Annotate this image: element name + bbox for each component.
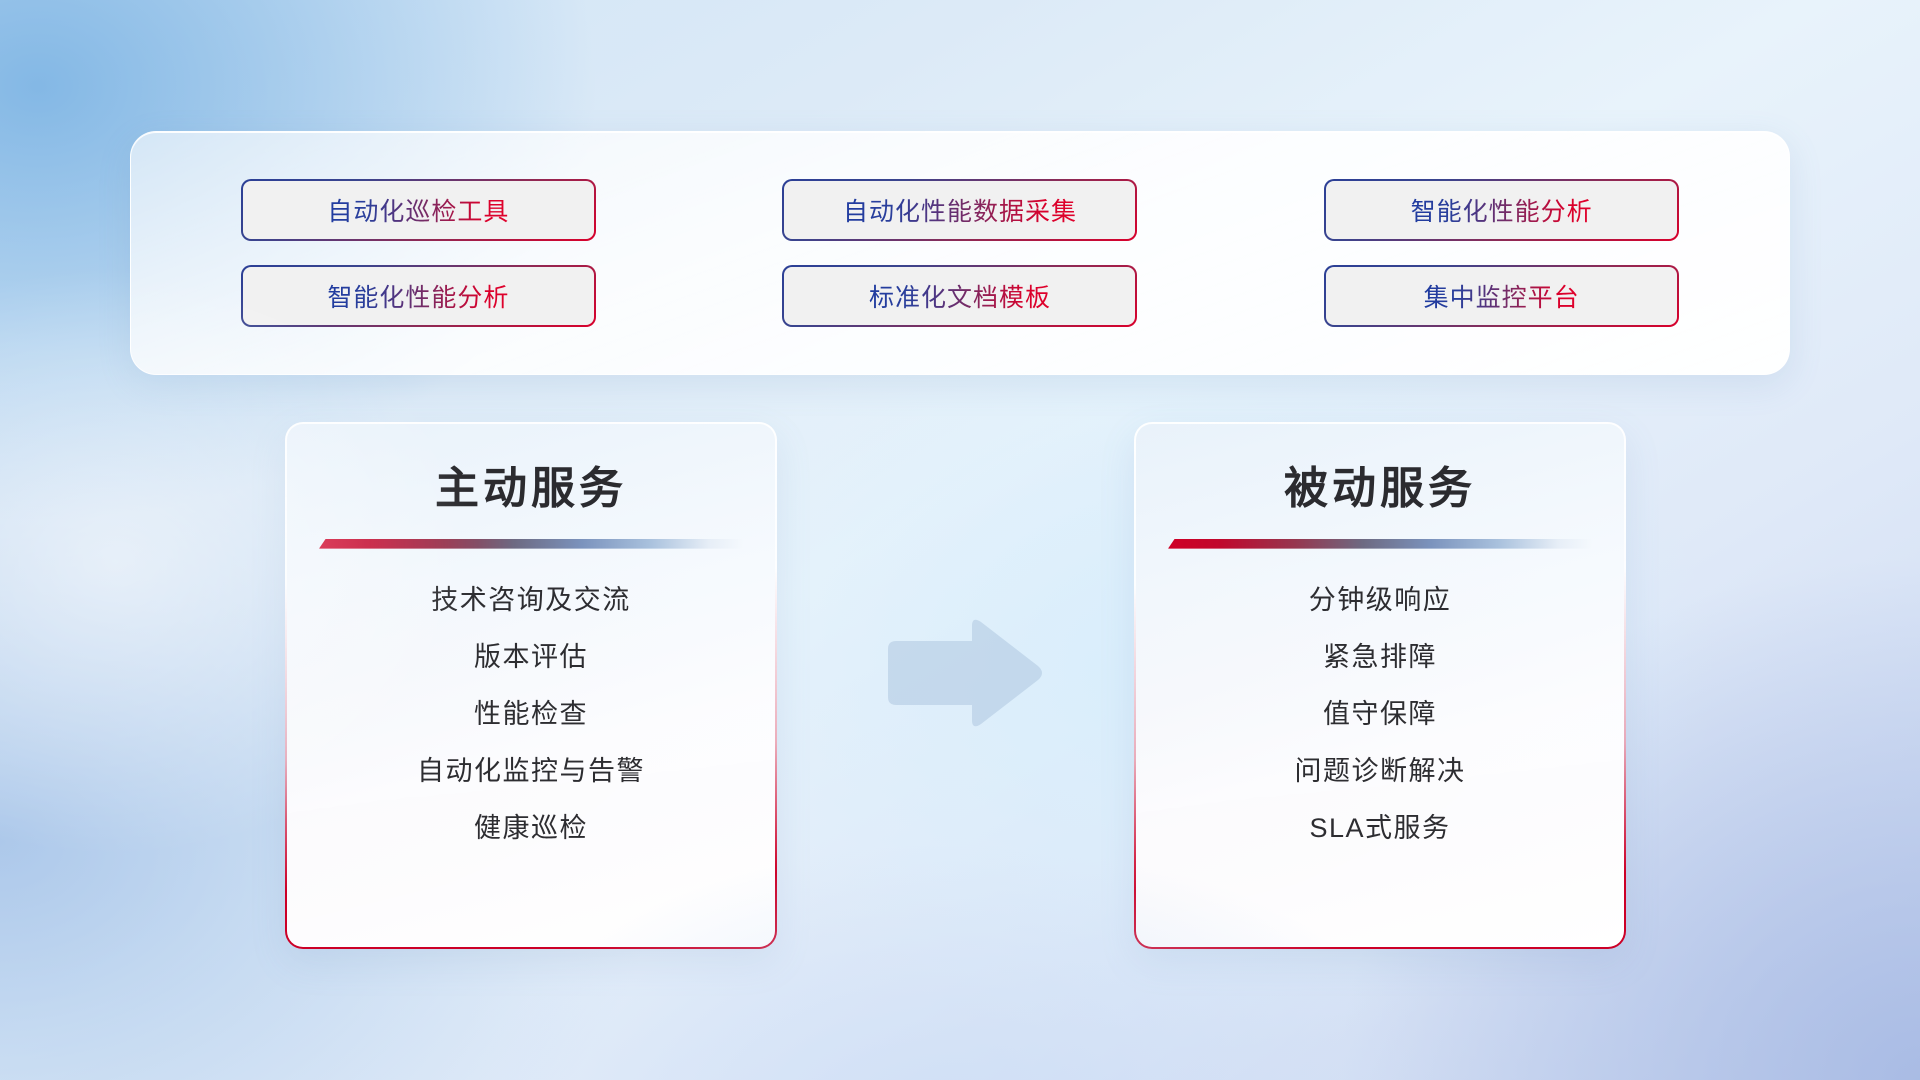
slide-canvas: 自动化巡检工具 自动化性能数据采集 智能化性能分析 智能化性能分析 标准化文档模… xyxy=(0,0,1920,1080)
service-card-proactive: 主动服务 技术咨询及交流 版本评估 性能检查 自动化监控与告警 健康巡检 xyxy=(285,422,777,949)
service-card-reactive: 被动服务 分钟级响应 紧急排障 值守保障 问题诊断解决 SLA式服务 xyxy=(1134,422,1626,949)
capability-pill-label: 智能化性能分析 xyxy=(327,278,509,314)
list-item: 问题诊断解决 xyxy=(1295,754,1466,789)
card-title-reactive: 被动服务 xyxy=(1284,464,1476,515)
capability-pill-intelligent-performance-analysis-bottom[interactable]: 智能化性能分析 xyxy=(241,265,596,327)
capability-pill-label: 标准化文档模板 xyxy=(869,278,1051,314)
list-item: 技术咨询及交流 xyxy=(431,583,631,618)
capability-pill-grid: 自动化巡检工具 自动化性能数据采集 智能化性能分析 智能化性能分析 标准化文档模… xyxy=(189,179,1731,327)
capability-pill-label: 集中监控平台 xyxy=(1424,278,1580,314)
capability-pill-standardized-document-template[interactable]: 标准化文档模板 xyxy=(782,265,1137,327)
list-item: 性能检查 xyxy=(474,697,588,732)
list-item: 值守保障 xyxy=(1323,697,1437,732)
capability-pill-label: 自动化性能数据采集 xyxy=(843,192,1077,228)
arrow-right-icon xyxy=(876,614,1044,732)
list-item: 紧急排障 xyxy=(1323,640,1437,675)
card-title-proactive: 主动服务 xyxy=(435,464,627,515)
list-item: 自动化监控与告警 xyxy=(417,754,645,789)
list-item: 版本评估 xyxy=(474,640,588,675)
service-list-proactive: 技术咨询及交流 版本评估 性能检查 自动化监控与告警 健康巡检 xyxy=(315,583,747,846)
capability-pills-panel: 自动化巡检工具 自动化性能数据采集 智能化性能分析 智能化性能分析 标准化文档模… xyxy=(130,131,1790,375)
capability-pill-label: 智能化性能分析 xyxy=(1411,192,1593,228)
capability-pill-intelligent-performance-analysis-top[interactable]: 智能化性能分析 xyxy=(1324,179,1679,241)
list-item: 分钟级响应 xyxy=(1309,583,1452,618)
list-item: SLA式服务 xyxy=(1309,811,1450,846)
card-divider xyxy=(1168,539,1592,549)
capability-pill-automated-inspection-tool[interactable]: 自动化巡检工具 xyxy=(241,179,596,241)
capability-pill-automated-performance-data-collection[interactable]: 自动化性能数据采集 xyxy=(782,179,1137,241)
card-divider xyxy=(319,539,743,549)
service-list-reactive: 分钟级响应 紧急排障 值守保障 问题诊断解决 SLA式服务 xyxy=(1164,583,1596,846)
capability-pill-label: 自动化巡检工具 xyxy=(327,192,509,228)
list-item: 健康巡检 xyxy=(474,811,588,846)
capability-pill-centralized-monitoring-platform[interactable]: 集中监控平台 xyxy=(1324,265,1679,327)
